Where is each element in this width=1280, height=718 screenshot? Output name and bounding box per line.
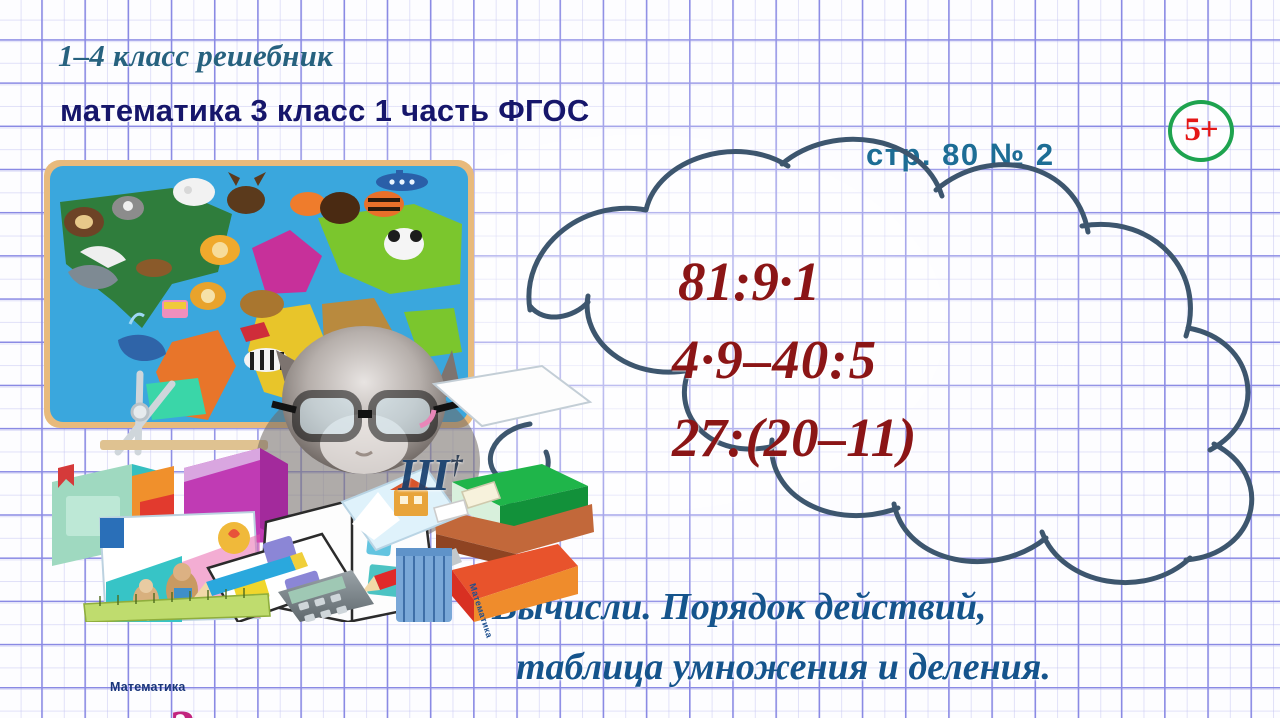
- math-expression-2: 4·9–40:5: [672, 321, 1040, 399]
- channel-watermark: Ш†: [398, 452, 463, 498]
- watermark-letter: Ш: [398, 449, 450, 500]
- math-expression-3: 27:(20–11): [672, 399, 1040, 477]
- textbook-grade: 3: [170, 704, 196, 718]
- math-expressions: 81:9·1 4·9–40:5 27:(20–11): [660, 243, 1040, 477]
- watermark-cross: †: [450, 451, 463, 480]
- math-expression-1: 81:9·1: [678, 243, 1040, 321]
- easel-tray: [100, 440, 268, 450]
- task-caption-line-2: таблица умножения и деления.: [516, 645, 1051, 689]
- slide-canvas: 1–4 класс решебник математика 3 класс 1 …: [0, 0, 1280, 718]
- pencil-bundle: [396, 548, 452, 622]
- textbook-title: Математика: [110, 680, 185, 694]
- page-title: математика 3 класс 1 часть ФГОС: [60, 93, 590, 129]
- school-supplies-illustration: Математика 3 Часть 1 Математика: [22, 152, 642, 622]
- series-heading: 1–4 класс решебник: [58, 38, 333, 74]
